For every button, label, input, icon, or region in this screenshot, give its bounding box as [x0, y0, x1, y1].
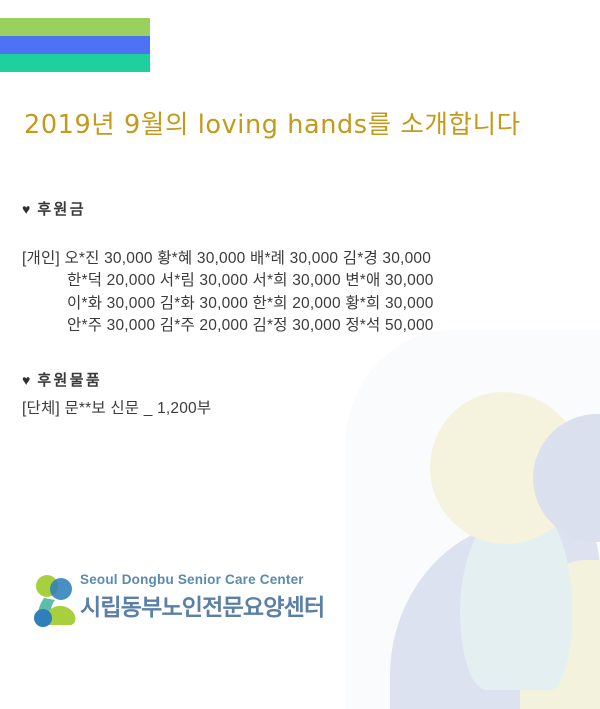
logo-korean-name: 시립동부노인전문요양센터: [80, 588, 324, 622]
page-title: 2019년 9월의 loving hands를 소개합니다: [24, 104, 576, 141]
section-heading-donation-label: 후원금: [37, 201, 86, 218]
decor-yellow-shape-large: [520, 560, 600, 709]
teal-bar: [0, 54, 150, 72]
goods-list: [단체] 문**보 신문 _ 1,200부: [22, 398, 211, 420]
decor-lavender-circle: [533, 414, 600, 542]
donation-list: [개인] 오*진 30,000 황*혜 30,000 배*례 30,000 김*…: [22, 248, 434, 337]
poster-canvas: 2019년 9월의 loving hands를 소개합니다 ♥후원금 [개인] …: [0, 0, 600, 709]
decor-lavender-shape-large: [390, 520, 600, 709]
list-item: 안*주 30,000 김*주 20,000 김*정 30,000 정*석 50,…: [22, 315, 434, 337]
decor-teal-circle: [460, 500, 572, 690]
background-wash-shape: [345, 330, 600, 709]
heart-icon: ♥: [22, 372, 30, 388]
logo-english-name: Seoul Dongbu Senior Care Center: [80, 572, 324, 587]
section-heading-goods: ♥후원물품: [22, 369, 102, 390]
section-heading-goods-label: 후원물품: [37, 372, 102, 389]
header-color-bars: [0, 18, 150, 72]
heart-icon: ♥: [22, 201, 30, 217]
list-item: 이*화 30,000 김*화 30,000 한*희 20,000 황*희 30,…: [22, 293, 434, 315]
section-heading-donation: ♥후원금: [22, 198, 86, 219]
green-bar: [0, 18, 150, 36]
blue-bar: [0, 36, 150, 54]
list-item: [개인] 오*진 30,000 황*혜 30,000 배*례 30,000 김*…: [22, 248, 434, 270]
organization-logo: Seoul Dongbu Senior Care Center 시립동부노인전문…: [30, 572, 330, 634]
list-item: 한*덕 20,000 서*림 30,000 서*희 30,000 변*애 30,…: [22, 270, 434, 292]
logo-text-block: Seoul Dongbu Senior Care Center 시립동부노인전문…: [80, 572, 324, 622]
list-item: [단체] 문**보 신문 _ 1,200부: [22, 398, 211, 420]
decor-yellow-circle: [430, 392, 582, 544]
